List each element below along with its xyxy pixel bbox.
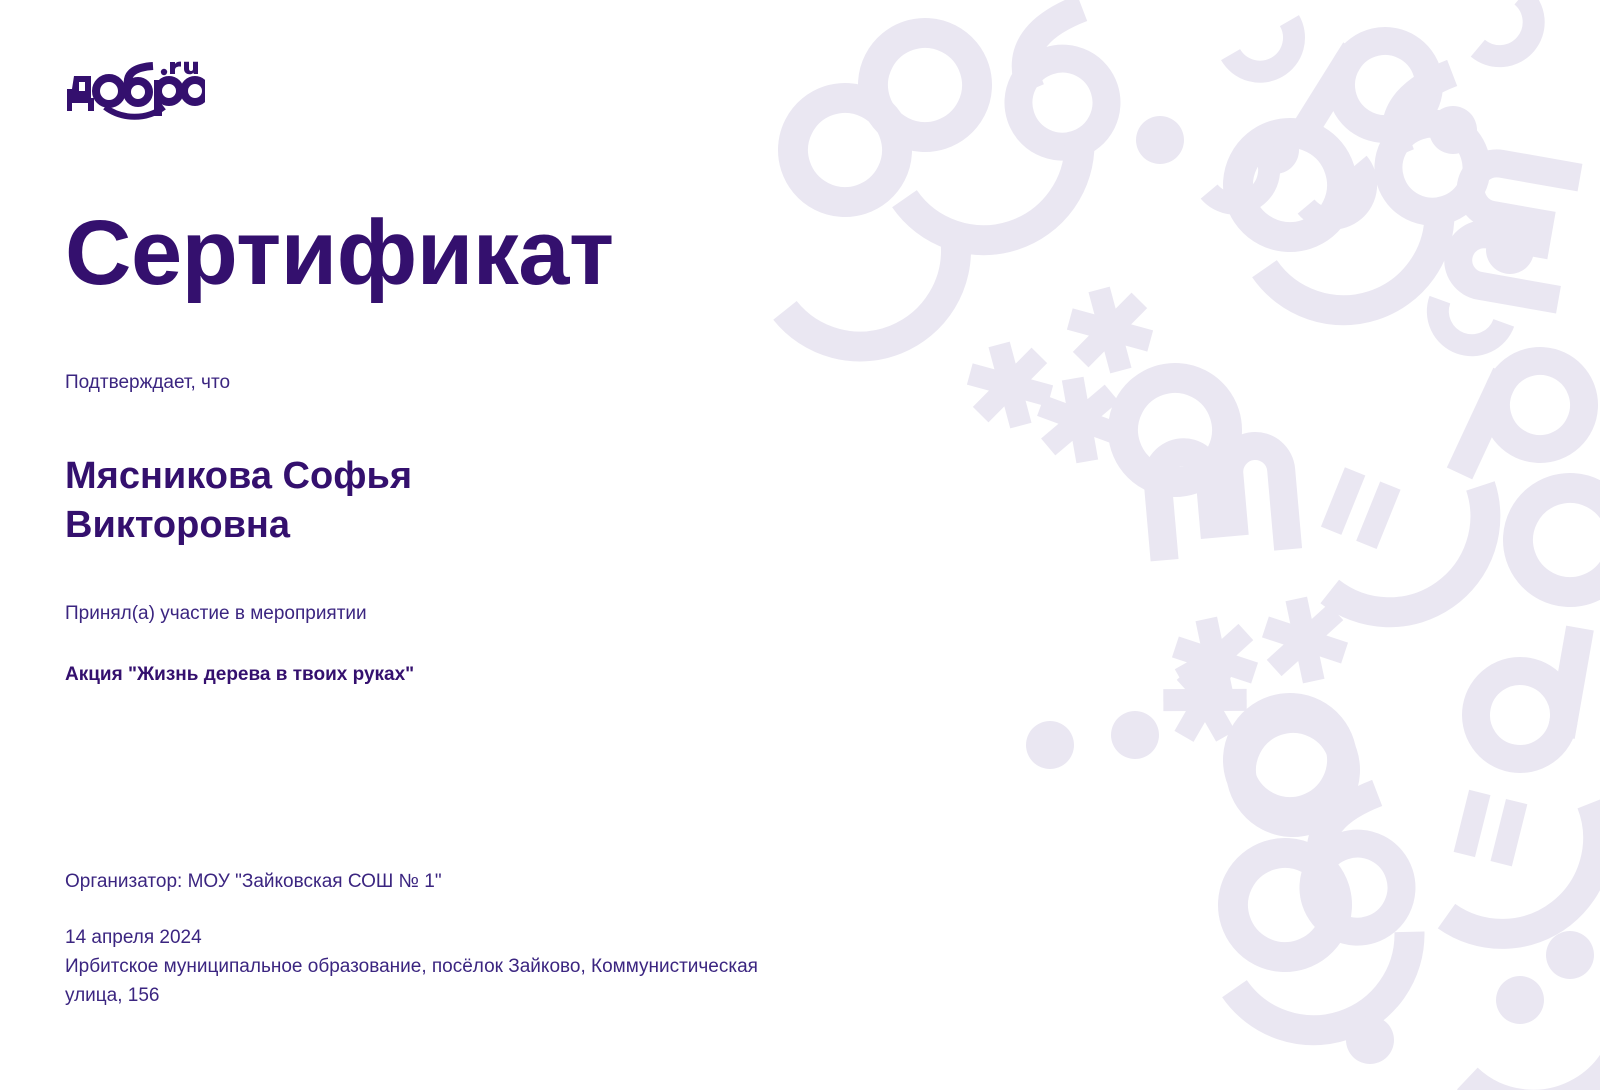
- dobro-ru-logo: [65, 58, 205, 120]
- event-title: Акция "Жизнь дерева в твоих руках": [65, 662, 414, 689]
- confirm-label: Подтверждает, что: [65, 370, 230, 397]
- location-line: Ирбитское муниципальное образование, пос…: [65, 953, 805, 1011]
- page-title: Сертификат: [65, 205, 614, 302]
- recipient-name: Мясникова Софья Викторовна: [65, 452, 625, 549]
- participation-label: Принял(а) участие в мероприятии: [65, 601, 367, 628]
- certificate-page: Сертификат Подтверждает, что Мясникова С…: [0, 0, 1600, 1090]
- issue-date: 14 апреля 2024: [65, 924, 805, 953]
- organizer-line: Организатор: МОУ "Зайковская СОШ № 1": [65, 869, 442, 896]
- certificate-meta: 14 апреля 2024 Ирбитское муниципальное о…: [65, 924, 805, 1011]
